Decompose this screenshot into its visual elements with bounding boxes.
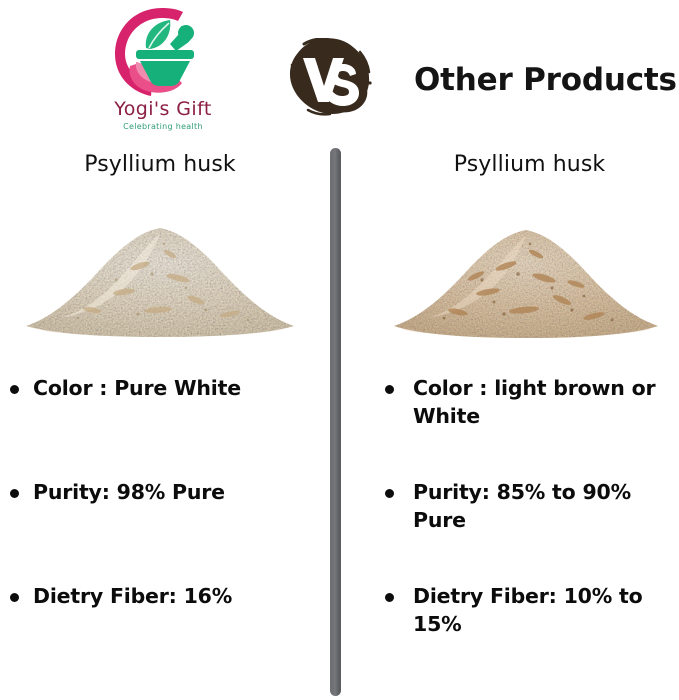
brand-name: Yogi's Gift — [98, 98, 228, 120]
list-item: Color : light brown or White — [372, 374, 679, 430]
bullet-dot-icon — [10, 593, 19, 602]
bullet-dot-icon — [385, 385, 394, 394]
feature-list-left: Color : Pure White Purity: 98% Pure Diet… — [0, 374, 320, 610]
column-divider — [330, 148, 341, 696]
bullet-dot-icon — [385, 489, 394, 498]
list-item: Dietry Fiber: 16% — [0, 582, 320, 610]
feature-list-right: Color : light brown or White Purity: 85%… — [372, 374, 679, 638]
mortar-pestle-leaf-hand-logo-icon — [106, 4, 218, 100]
list-item-text: Dietry Fiber: 16% — [33, 584, 232, 608]
list-item: Purity: 85% to 90% Pure — [372, 478, 679, 534]
bullet-dot-icon — [10, 489, 19, 498]
list-item: Color : Pure White — [0, 374, 320, 402]
list-item-text: Color : Pure White — [33, 376, 241, 400]
list-item-text: Purity: 98% Pure — [33, 480, 225, 504]
column-other-products: Psyllium husk — [372, 148, 679, 686]
psyllium-husk-pile-white-icon — [20, 214, 300, 340]
psyllium-husk-pile-brown-icon — [388, 218, 664, 340]
list-item-text: Color : light brown or White — [413, 376, 655, 428]
brand-tagline: Celebrating health — [98, 122, 228, 131]
other-products-title: Other Products — [414, 62, 677, 98]
bullet-dot-icon — [10, 385, 19, 394]
product-heading-right: Psyllium husk — [380, 148, 679, 182]
product-heading-left: Psyllium husk — [0, 148, 320, 182]
list-item-text: Purity: 85% to 90% Pure — [413, 480, 631, 532]
brand-logo: Yogi's Gift Celebrating health — [98, 4, 228, 138]
list-item-text: Dietry Fiber: 10% to 15% — [413, 584, 643, 636]
husk-image-left-wrap — [0, 196, 320, 346]
header: Yogi's Gift Celebrating health VS Other … — [0, 0, 679, 142]
list-item: Dietry Fiber: 10% to 15% — [372, 582, 679, 638]
husk-image-right-wrap — [372, 196, 679, 346]
bullet-dot-icon — [385, 593, 394, 602]
list-item: Purity: 98% Pure — [0, 478, 320, 506]
column-yogis-gift: Psyllium husk — [0, 148, 320, 686]
vs-badge: VS — [286, 38, 374, 116]
vs-ink-blot-icon — [286, 38, 374, 116]
